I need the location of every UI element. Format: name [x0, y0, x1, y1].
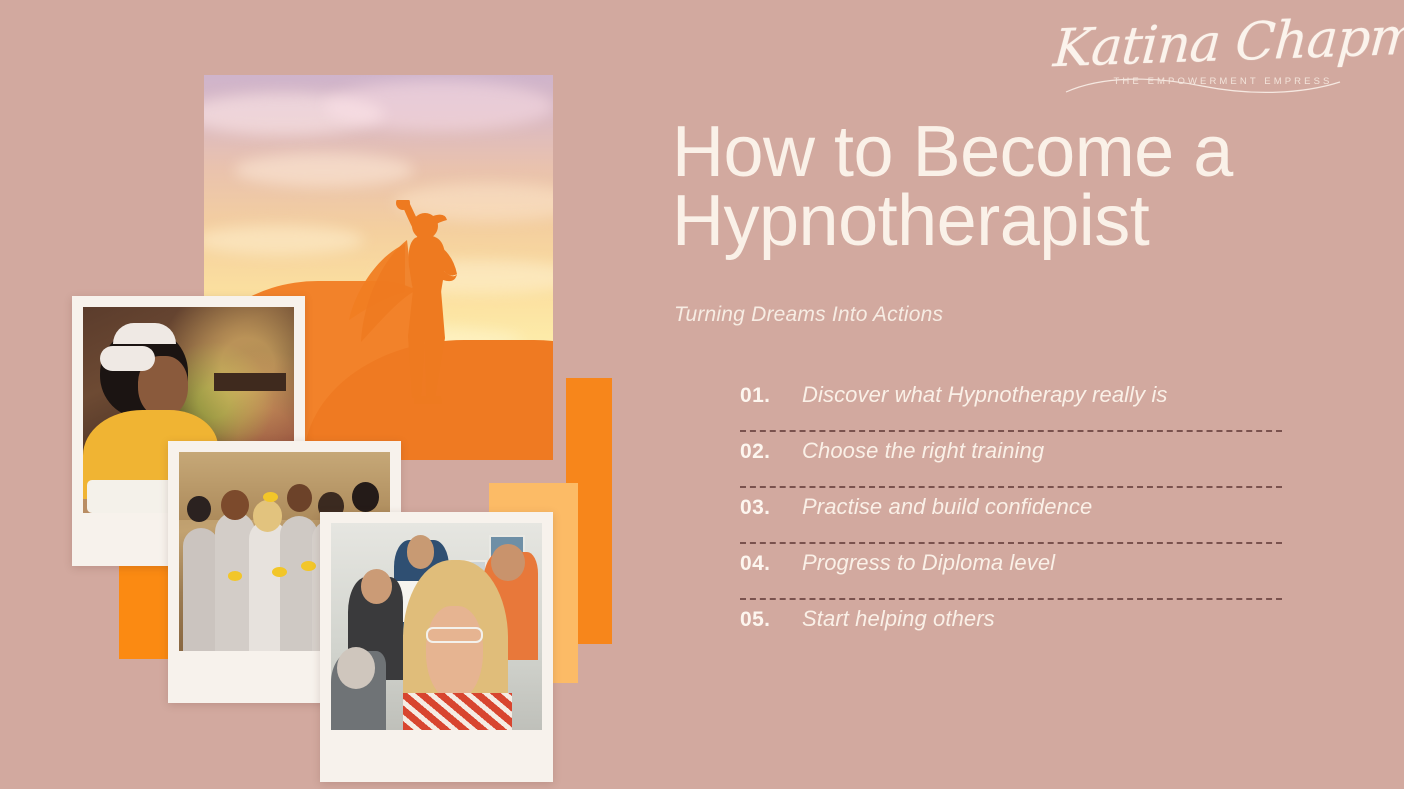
image-collage — [0, 0, 660, 789]
polaroid-photo-certificates-selfie — [320, 512, 553, 782]
list-item[interactable]: 03. Practise and build confidence — [740, 494, 1282, 538]
step-number: 05. — [740, 608, 802, 632]
list-item[interactable]: 01. Discover what Hypnotherapy really is — [740, 382, 1282, 426]
divider — [740, 430, 1282, 432]
step-text: Choose the right training — [802, 438, 1044, 464]
step-number: 01. — [740, 384, 802, 408]
divider — [740, 486, 1282, 488]
list-item[interactable]: 02. Choose the right training — [740, 438, 1282, 482]
steps-list: 01. Discover what Hypnotherapy really is… — [740, 382, 1282, 650]
page-subtitle: Turning Dreams Into Actions — [674, 303, 943, 327]
content-panel: How to Become a Hypnotherapist Turning D… — [672, 0, 1332, 789]
step-text: Discover what Hypnotherapy really is — [802, 382, 1168, 408]
step-text: Start helping others — [802, 606, 995, 632]
step-number: 02. — [740, 440, 802, 464]
step-text: Progress to Diploma level — [802, 550, 1055, 576]
step-number: 04. — [740, 552, 802, 576]
page-title: How to Become a Hypnotherapist — [672, 118, 1332, 256]
list-item[interactable]: 05. Start helping others — [740, 606, 1282, 650]
divider — [740, 598, 1282, 600]
step-number: 03. — [740, 496, 802, 520]
step-text: Practise and build confidence — [802, 494, 1092, 520]
divider — [740, 542, 1282, 544]
superhero-silhouette-icon — [347, 200, 517, 450]
list-item[interactable]: 04. Progress to Diploma level — [740, 550, 1282, 594]
